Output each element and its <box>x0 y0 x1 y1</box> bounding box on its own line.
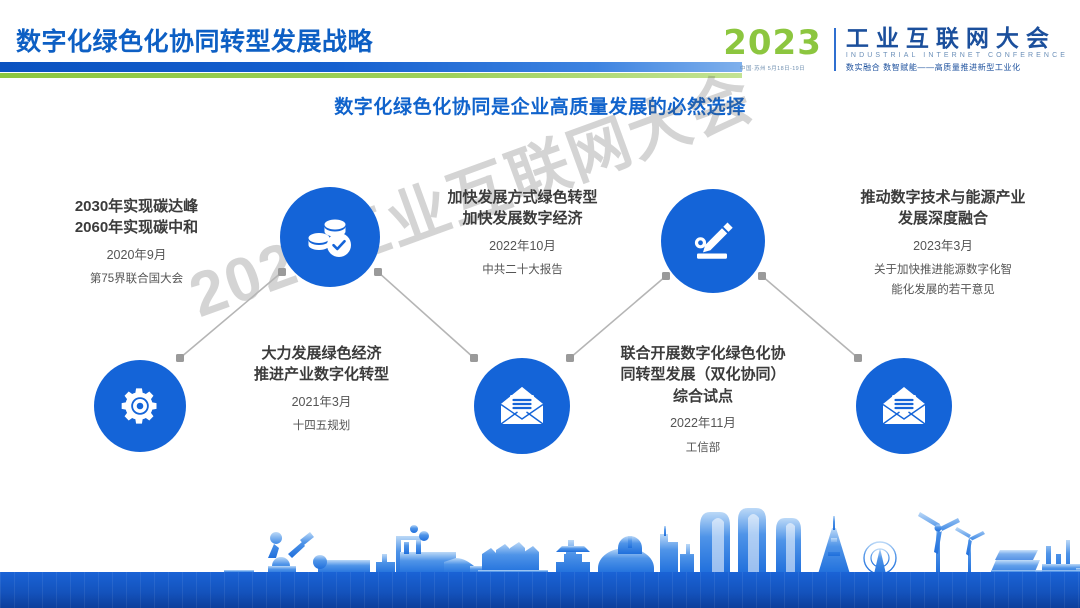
logo-year-block: 2023 中国·苏州 5月18日-19日 <box>723 26 834 72</box>
node-gear[interactable] <box>94 360 186 452</box>
node-coins[interactable] <box>280 187 380 287</box>
slide-root: 数字化绿色化协同转型发展战略 2023 中国·苏州 5月18日-19日 工业互联… <box>0 0 1080 608</box>
conference-logo: 2023 中国·苏州 5月18日-19日 工业互联网大会 INDUSTRIAL … <box>723 26 1068 73</box>
item-heading-line: 推进产业数字化转型 <box>214 364 429 385</box>
item-heading-line: 联合开展数字化绿色化协 <box>595 343 811 364</box>
item-date: 2022年10月 <box>410 237 635 256</box>
item-heading-line: 加快发展数字经济 <box>410 208 635 229</box>
item-heading-line: 大力发展绿色经济 <box>214 343 429 364</box>
item-heading-line: 综合试点 <box>595 386 811 407</box>
coins-icon <box>304 214 356 260</box>
logo-name-cn: 工业互联网大会 <box>846 26 1068 50</box>
item-date: 2020年9月 <box>34 246 239 265</box>
item-heading-line: 推动数字技术与能源产业 <box>832 187 1054 208</box>
item-dual-pilot: 联合开展数字化绿色化协 同转型发展（双化协同） 综合试点 2022年11月 工信… <box>595 343 811 457</box>
slide-subtitle: 数字化绿色化协同是企业高质量发展的必然选择 <box>0 92 1080 119</box>
envelope-icon <box>498 384 546 428</box>
envelope-icon <box>880 384 928 428</box>
item-source: 第75界联合国大会 <box>34 271 239 289</box>
item-source: 十四五规划 <box>214 418 429 436</box>
header-accent-bar-white <box>0 78 742 80</box>
bottom-band-grid <box>0 572 1080 608</box>
page-title: 数字化绿色化协同转型发展战略 <box>16 22 373 58</box>
item-energy-fusion: 推动数字技术与能源产业 发展深度融合 2023年3月 关于加快推进能源数字化智 … <box>832 187 1054 300</box>
item-heading-line: 同转型发展（双化协同） <box>595 364 811 385</box>
item-heading-line: 2030年实现碳达峰 <box>34 196 239 217</box>
gear-icon <box>118 384 162 428</box>
logo-name-block: 工业互联网大会 INDUSTRIAL INTERNET CONFERENCE 数… <box>846 26 1068 73</box>
city-skyline-decoration <box>0 496 1080 574</box>
item-date: 2021年3月 <box>214 393 429 412</box>
logo-year-subtext: 中国·苏州 5月18日-19日 <box>723 64 822 72</box>
node-mail-2[interactable] <box>856 358 952 454</box>
logo-name-en: INDUSTRIAL INTERNET CONFERENCE <box>846 52 1068 59</box>
item-date: 2023年3月 <box>832 237 1054 256</box>
logo-tagline: 数实融合 数智赋能——高质量推进新型工业化 <box>846 62 1068 73</box>
item-source: 关于加快推进能源数字化智 <box>832 262 1054 280</box>
item-source: 能化发展的若干意见 <box>832 282 1054 300</box>
item-green-transform: 加快发展方式绿色转型 加快发展数字经济 2022年10月 中共二十大报告 <box>410 187 635 280</box>
header-accent-bar-blue <box>0 62 742 72</box>
item-heading-line: 发展深度融合 <box>832 208 1054 229</box>
item-date: 2022年11月 <box>595 414 811 433</box>
item-heading-line: 2060年实现碳中和 <box>34 217 239 238</box>
logo-year-text: 2023 <box>723 26 822 60</box>
item-source: 工信部 <box>595 440 811 458</box>
node-sign[interactable] <box>661 189 765 293</box>
logo-divider <box>834 28 836 71</box>
signing-icon <box>687 215 739 267</box>
node-mail-1[interactable] <box>474 358 570 454</box>
item-carbon-peak: 2030年实现碳达峰 2060年实现碳中和 2020年9月 第75界联合国大会 <box>34 196 239 289</box>
item-source: 中共二十大报告 <box>410 262 635 280</box>
item-heading-line: 加快发展方式绿色转型 <box>410 187 635 208</box>
item-green-economy: 大力发展绿色经济 推进产业数字化转型 2021年3月 十四五规划 <box>214 343 429 436</box>
